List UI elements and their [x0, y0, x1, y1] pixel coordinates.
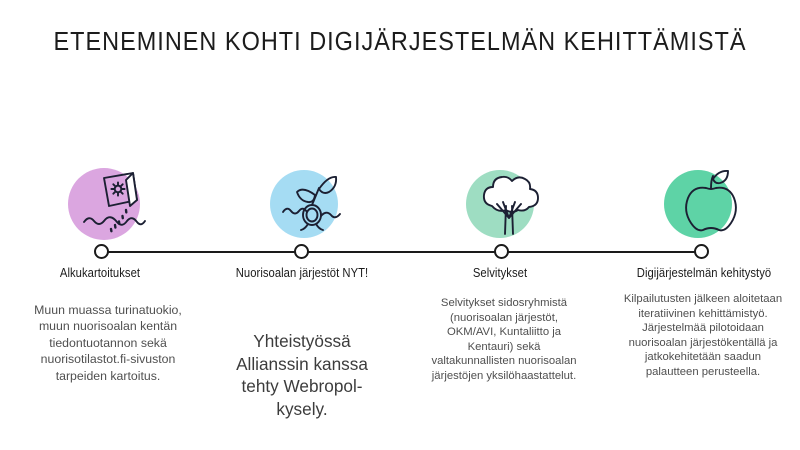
timeline-node-1	[94, 244, 109, 259]
milestone-description-4: Kilpailutusten jälkeen aloitetaan iterat…	[620, 292, 786, 380]
seed-packet-icon	[78, 170, 148, 236]
slide-canvas: ETENEMINEN KOHTI DIGIJÄRJESTELMÄN KEHITT…	[0, 0, 800, 450]
sprout-icon	[278, 172, 348, 236]
page-title: ETENEMINEN KOHTI DIGIJÄRJESTELMÄN KEHITT…	[32, 28, 768, 57]
timeline-node-3	[494, 244, 509, 259]
tree-icon	[472, 170, 546, 240]
timeline-node-4	[694, 244, 709, 259]
milestone-label-2: Nuorisoalan järjestöt NYT!	[223, 266, 381, 280]
milestone-description-3: Selvitykset sidosryhmistä (nuorisoalan j…	[430, 296, 578, 384]
apple-icon	[676, 168, 748, 240]
milestone-description-2: Yhteistyössä Allianssin kanssa tehty Web…	[228, 330, 376, 420]
timeline-node-2	[294, 244, 309, 259]
milestone-label-3: Selvitykset	[446, 266, 554, 280]
milestone-description-1: Muun muassa turinatuokio, muun nuorisoal…	[28, 302, 188, 384]
timeline-axis	[100, 251, 700, 253]
milestone-label-4: Digijärjestelmän kehitystyö	[618, 266, 791, 280]
milestone-label-1: Alkukartoitukset	[37, 266, 163, 280]
